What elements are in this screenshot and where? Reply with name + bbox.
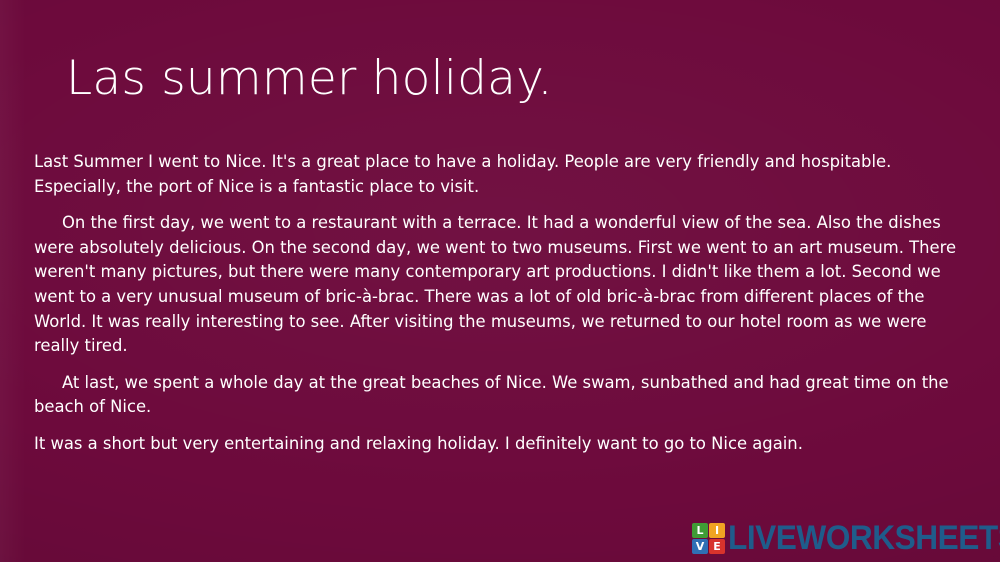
- liveworksheets-tiles-icon: L I V E: [692, 523, 725, 554]
- liveworksheets-watermark: L I V E LIVEWORKSHEETS: [692, 521, 1000, 555]
- paragraph-conclusion: It was a short but very entertaining and…: [34, 432, 970, 457]
- paragraph-first-days: On the first day, we went to a restauran…: [34, 211, 970, 359]
- logo-tile-l: L: [692, 523, 708, 538]
- paragraph-intro: Last Summer I went to Nice. It's a great…: [34, 150, 970, 199]
- logo-tile-e: E: [709, 539, 725, 554]
- worksheet-slide: Las summer holiday. Last Summer I went t…: [0, 0, 1000, 562]
- worksheet-body-text: Last Summer I went to Nice. It's a great…: [34, 150, 970, 457]
- page-title: Las summer holiday.: [66, 51, 553, 107]
- paragraph-beach-day: At last, we spent a whole day at the gre…: [34, 371, 970, 420]
- liveworksheets-wordmark: LIVEWORKSHEETS: [728, 521, 1000, 555]
- logo-tile-i: I: [709, 523, 725, 538]
- logo-tile-v: V: [692, 539, 708, 554]
